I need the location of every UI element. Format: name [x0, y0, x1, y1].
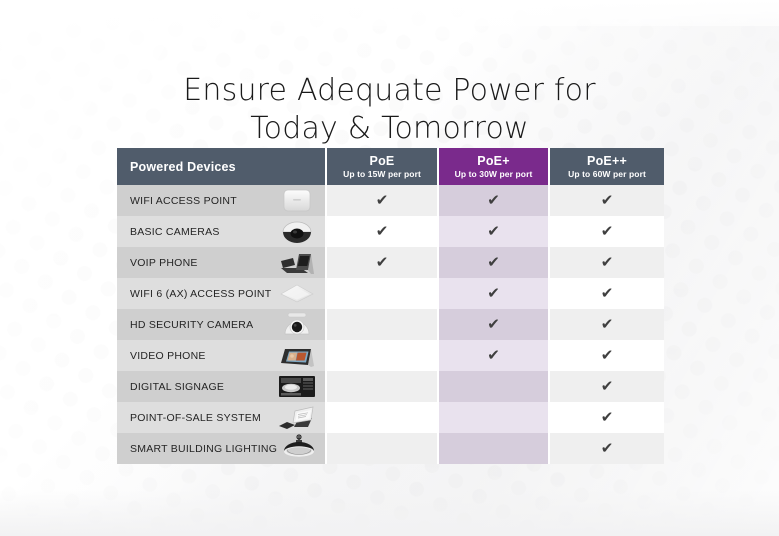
check-icon: ✔	[601, 278, 614, 309]
check-icon: ✔	[487, 309, 500, 340]
device-cell: WIFI 6 (AX) ACCESS POINT	[117, 278, 326, 309]
background-top-highlight	[0, 0, 779, 26]
support-cell-poe-plus: ✔	[438, 309, 549, 340]
device-cell: WIFI ACCESS POINT	[117, 185, 326, 216]
header-column-poe: PoE Up to 15W per port	[326, 148, 438, 185]
header-poe-plus-plus-subtitle: Up to 60W per port	[550, 168, 664, 180]
device-label: DIGITAL SIGNAGE	[130, 381, 224, 393]
support-cell-poe: ✔	[326, 340, 438, 371]
title-line-2: Today & Tomorrow	[0, 110, 779, 148]
header-poe-title: PoE	[327, 154, 437, 168]
support-cell-poe: ✔	[326, 309, 438, 340]
check-icon: ✔	[376, 247, 389, 278]
support-cell-poe-plus: ✔	[438, 185, 549, 216]
table-row: DIGITAL SIGNAGE✔✔✔	[117, 371, 664, 402]
wifi-access-point-icon	[275, 186, 319, 215]
support-cell-poe: ✔	[326, 185, 438, 216]
voip-phone-icon	[275, 248, 319, 277]
check-icon: ✔	[487, 247, 500, 278]
table-row: SMART BUILDING LIGHTING✔✔✔	[117, 433, 664, 464]
device-label: SMART BUILDING LIGHTING	[130, 443, 277, 455]
device-label: WIFI ACCESS POINT	[130, 195, 237, 207]
device-label: VIDEO PHONE	[130, 350, 206, 362]
check-icon: ✔	[376, 185, 389, 216]
device-cell: POINT-OF-SALE SYSTEM	[117, 402, 326, 433]
support-cell-poe-plus-plus: ✔	[549, 185, 664, 216]
table-header-row: Powered Devices PoE Up to 15W per port P…	[117, 148, 664, 185]
background-bottom-shade	[0, 490, 779, 536]
check-icon: ✔	[601, 216, 614, 247]
check-icon: ✔	[601, 371, 614, 402]
check-icon: ✔	[601, 309, 614, 340]
video-phone-icon	[275, 341, 319, 370]
support-cell-poe: ✔	[326, 216, 438, 247]
table-row: BASIC CAMERAS✔✔✔	[117, 216, 664, 247]
support-cell-poe-plus-plus: ✔	[549, 371, 664, 402]
check-icon: ✔	[601, 185, 614, 216]
device-cell: DIGITAL SIGNAGE	[117, 371, 326, 402]
header-column-poe-plus-plus: PoE++ Up to 60W per port	[549, 148, 664, 185]
dome-camera-icon	[275, 217, 319, 246]
support-cell-poe: ✔	[326, 402, 438, 433]
support-cell-poe-plus: ✔	[438, 216, 549, 247]
device-label: WIFI 6 (AX) ACCESS POINT	[130, 288, 271, 300]
high-bay-light-icon	[277, 434, 321, 463]
poe-comparison-table-wrapper: Powered Devices PoE Up to 15W per port P…	[117, 148, 664, 464]
support-cell-poe-plus-plus: ✔	[549, 309, 664, 340]
check-icon: ✔	[601, 340, 614, 371]
slide-title: Ensure Adequate Power for Today & Tomorr…	[0, 72, 779, 148]
support-cell-poe-plus: ✔	[438, 433, 549, 464]
header-poe-plus-subtitle: Up to 30W per port	[439, 168, 548, 180]
header-poe-subtitle: Up to 15W per port	[327, 168, 437, 180]
device-cell: VOIP PHONE	[117, 247, 326, 278]
support-cell-poe-plus: ✔	[438, 247, 549, 278]
slide-canvas: Ensure Adequate Power for Today & Tomorr…	[0, 0, 779, 536]
table-row: WIFI ACCESS POINT✔✔✔	[117, 185, 664, 216]
table-row: WIFI 6 (AX) ACCESS POINT✔✔✔	[117, 278, 664, 309]
table-row: VIDEO PHONE✔✔✔	[117, 340, 664, 371]
device-label: HD SECURITY CAMERA	[130, 319, 253, 331]
digital-signage-icon	[275, 372, 319, 401]
table-row: VOIP PHONE✔✔✔	[117, 247, 664, 278]
header-poe-plus-plus-title: PoE++	[550, 154, 664, 168]
device-cell: VIDEO PHONE	[117, 340, 326, 371]
wifi6-access-point-icon	[275, 279, 319, 308]
device-label: VOIP PHONE	[130, 257, 198, 269]
support-cell-poe-plus: ✔	[438, 402, 549, 433]
check-icon: ✔	[376, 216, 389, 247]
table-row: HD SECURITY CAMERA✔✔✔	[117, 309, 664, 340]
check-icon: ✔	[601, 402, 614, 433]
header-poe-plus-title: PoE+	[439, 154, 548, 168]
header-column-poe-plus: PoE+ Up to 30W per port	[438, 148, 549, 185]
check-icon: ✔	[487, 278, 500, 309]
turret-camera-icon	[275, 310, 319, 339]
support-cell-poe: ✔	[326, 278, 438, 309]
device-cell: HD SECURITY CAMERA	[117, 309, 326, 340]
support-cell-poe: ✔	[326, 247, 438, 278]
device-cell: SMART BUILDING LIGHTING	[117, 433, 326, 464]
check-icon: ✔	[487, 185, 500, 216]
table-row: POINT-OF-SALE SYSTEM✔✔✔	[117, 402, 664, 433]
support-cell-poe-plus: ✔	[438, 278, 549, 309]
support-cell-poe-plus-plus: ✔	[549, 247, 664, 278]
check-icon: ✔	[487, 340, 500, 371]
point-of-sale-icon	[275, 403, 319, 432]
device-label: POINT-OF-SALE SYSTEM	[130, 412, 261, 424]
support-cell-poe-plus-plus: ✔	[549, 433, 664, 464]
support-cell-poe: ✔	[326, 371, 438, 402]
title-line-1: Ensure Adequate Power for	[0, 72, 779, 110]
support-cell-poe-plus-plus: ✔	[549, 216, 664, 247]
device-label: BASIC CAMERAS	[130, 226, 220, 238]
check-icon: ✔	[601, 247, 614, 278]
support-cell-poe: ✔	[326, 433, 438, 464]
support-cell-poe-plus-plus: ✔	[549, 278, 664, 309]
support-cell-poe-plus: ✔	[438, 340, 549, 371]
support-cell-poe-plus-plus: ✔	[549, 402, 664, 433]
check-icon: ✔	[487, 216, 500, 247]
check-icon: ✔	[601, 433, 614, 464]
device-cell: BASIC CAMERAS	[117, 216, 326, 247]
poe-comparison-table: Powered Devices PoE Up to 15W per port P…	[117, 148, 664, 464]
header-powered-devices: Powered Devices	[117, 148, 326, 185]
support-cell-poe-plus: ✔	[438, 371, 549, 402]
table-body: WIFI ACCESS POINT✔✔✔BASIC CAMERAS✔✔✔VOIP…	[117, 185, 664, 464]
table-header: Powered Devices PoE Up to 15W per port P…	[117, 148, 664, 185]
support-cell-poe-plus-plus: ✔	[549, 340, 664, 371]
